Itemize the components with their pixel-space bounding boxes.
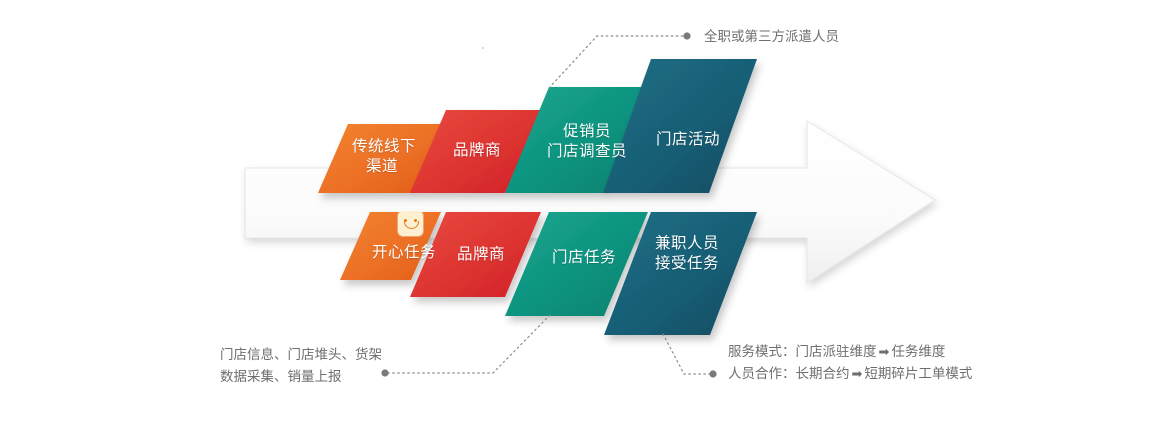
- connector-bottom-left: [388, 315, 550, 373]
- stray-speck: [482, 47, 484, 49]
- annotation-top-right: 全职或第三方派遣人员: [704, 26, 839, 48]
- smiley-mouth: [404, 221, 419, 229]
- annotation-bottom-right-line2: 人员合作：长期合约➡短期碎片工单模式: [728, 363, 972, 385]
- diagram-canvas: 传统线下 渠道 品牌商 促销员 门店调查员 门店活动 开心任务 品牌商 门店任务…: [0, 0, 1150, 430]
- connector-dot-bottom-left: [381, 369, 388, 376]
- smiley-logo-icon: [398, 211, 423, 236]
- right-arrow-icon: ➡: [877, 344, 892, 359]
- connector-bottom-right: [663, 334, 710, 374]
- annotation-bottom-left-line2: 数据采集、销量上报: [220, 366, 382, 388]
- traditional-row: [318, 59, 757, 193]
- annotation-bottom-left: 门店信息、门店堆头、货架 数据采集、销量上报: [220, 344, 382, 388]
- cooperation-prefix: 人员合作：长期合约: [728, 366, 850, 381]
- cooperation-suffix: 短期碎片工单模式: [864, 366, 972, 381]
- service-mode-prefix: 服务模式：门店派驻维度: [728, 344, 877, 359]
- connector-dot-top-right: [683, 32, 690, 39]
- annotation-bottom-right-line1: 服务模式：门店派驻维度➡任务维度: [728, 341, 972, 363]
- annotation-bottom-left-line1: 门店信息、门店堆头、货架: [220, 344, 382, 366]
- right-arrow-icon-2: ➡: [850, 366, 865, 381]
- annotation-top-right-text: 全职或第三方派遣人员: [704, 29, 839, 44]
- annotation-bottom-right: 服务模式：门店派驻维度➡任务维度 人员合作：长期合约➡短期碎片工单模式: [728, 341, 972, 385]
- connector-dot-bottom-right: [709, 370, 716, 377]
- service-mode-suffix: 任务维度: [891, 344, 945, 359]
- diagram-svg: [0, 0, 1150, 430]
